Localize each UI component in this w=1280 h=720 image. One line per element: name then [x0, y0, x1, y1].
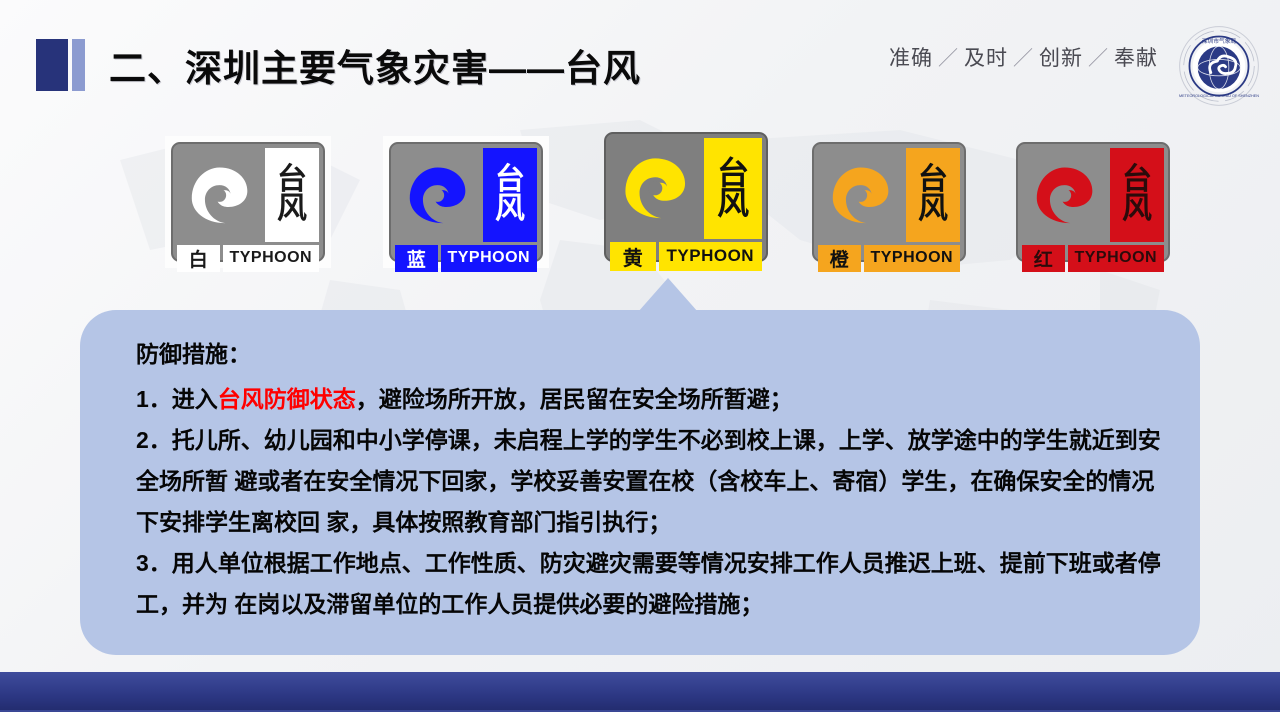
measure-item-1: 1．进入台风防御状态，避险场所开放，居民留在安全场所暂避；	[136, 379, 1176, 420]
hanzi-tai: 台	[717, 158, 749, 188]
measure-item-3: 3．用人单位根据工作地点、工作性质、防灾避灾需要等情况安排工作人员推迟上班、提前…	[136, 543, 1176, 625]
measure-1-highlight: 台风防御状态	[218, 386, 356, 412]
measure-1-prefix: 1．进入	[136, 386, 218, 412]
hanzi-tai: 台	[495, 166, 525, 195]
typhoon-english-label-red: TYPHOON	[1068, 245, 1164, 272]
tagline-word-4: 奉献	[1114, 47, 1158, 70]
typhoon-level-char-yellow: 黄	[610, 242, 656, 271]
typhoon-english-label-white: TYPHOON	[223, 245, 319, 272]
defense-measures-text: 防御措施： 1．进入台风防御状态，避险场所开放，居民留在安全场所暂避； 2．托儿…	[136, 334, 1176, 625]
typhoon-signal-blue[interactable]: 台 风 蓝 TYPHOON	[383, 136, 549, 268]
typhoon-signal-orange[interactable]: 台 风 橙 TYPHOON	[806, 136, 972, 268]
typhoon-level-char-blue: 蓝	[395, 245, 438, 272]
measure-1-suffix: ，避险场所开放，居民留在安全场所暂避；	[356, 386, 793, 412]
typhoon-english-label-yellow: TYPHOON	[659, 242, 762, 271]
tagline-separator-2: ／	[1013, 48, 1034, 70]
tagline-separator-1: ／	[938, 48, 959, 70]
footer-underline	[0, 710, 1280, 720]
typhoon-hanzi-panel-blue: 台 风	[483, 148, 537, 242]
typhoon-signal-yellow[interactable]: 台 风 黄 TYPHOON	[598, 126, 774, 268]
typhoon-signal-white[interactable]: 台 风 白 TYPHOON	[165, 136, 331, 268]
hanzi-tai: 台	[918, 166, 948, 195]
measures-title: 防御措施：	[136, 334, 1176, 375]
typhoon-swirl-icon-blue	[395, 148, 480, 242]
typhoon-level-char-red: 红	[1022, 245, 1065, 272]
tagline-word-1: 准确	[889, 47, 933, 70]
typhoon-english-label-blue: TYPHOON	[441, 245, 537, 272]
hanzi-tai: 台	[277, 166, 307, 195]
typhoon-swirl-icon-orange	[818, 148, 903, 242]
tagline-word-2: 及时	[964, 47, 1008, 70]
hanzi-feng: 风	[1122, 195, 1152, 224]
hanzi-feng: 风	[717, 188, 749, 218]
typhoon-level-char-white: 白	[177, 245, 220, 272]
typhoon-swirl-icon-white	[177, 148, 262, 242]
typhoon-signal-red[interactable]: 台 风 红 TYPHOON	[1010, 136, 1176, 268]
organization-logo-icon: 深圳市气象局 METEOROLOGICAL BUREAU OF SHENZHEN	[1178, 25, 1260, 107]
svg-text:METEOROLOGICAL BUREAU OF SHENZ: METEOROLOGICAL BUREAU OF SHENZHEN	[1179, 94, 1259, 98]
footer-bar	[0, 672, 1280, 712]
hanzi-feng: 风	[918, 195, 948, 224]
typhoon-hanzi-panel-yellow: 台 风	[704, 138, 762, 239]
typhoon-swirl-icon-yellow	[610, 138, 701, 239]
typhoon-swirl-icon-red	[1022, 148, 1107, 242]
slide-title-block: 二、深圳主要气象灾害——台风	[36, 38, 641, 92]
page-title: 二、深圳主要气象灾害——台风	[109, 38, 641, 92]
hanzi-tai: 台	[1122, 166, 1152, 195]
callout-pointer	[638, 278, 698, 312]
tagline-word-3: 创新	[1039, 47, 1083, 70]
svg-text:深圳市气象局: 深圳市气象局	[1202, 37, 1237, 45]
typhoon-hanzi-panel-orange: 台 风	[906, 148, 960, 242]
title-accent-bar-light	[72, 39, 85, 91]
typhoon-level-char-orange: 橙	[818, 245, 861, 272]
typhoon-signal-row: 台 风 白 TYPHOON	[0, 118, 1280, 283]
typhoon-english-label-orange: TYPHOON	[864, 245, 960, 272]
tagline-separator-3: ／	[1088, 48, 1109, 70]
measure-item-2: 2．托儿所、幼儿园和中小学停课，未启程上学的学生不必到校上课，上学、放学途中的学…	[136, 420, 1176, 543]
slide: 二、深圳主要气象灾害——台风 准确／及时／创新／奉献 深圳市气象局 METEOR…	[0, 0, 1280, 720]
tagline: 准确／及时／创新／奉献	[889, 42, 1158, 72]
title-accent-bar-dark	[36, 39, 68, 91]
typhoon-hanzi-panel-red: 台 风	[1110, 148, 1164, 242]
typhoon-hanzi-panel-white: 台 风	[265, 148, 319, 242]
hanzi-feng: 风	[495, 195, 525, 224]
hanzi-feng: 风	[277, 195, 307, 224]
